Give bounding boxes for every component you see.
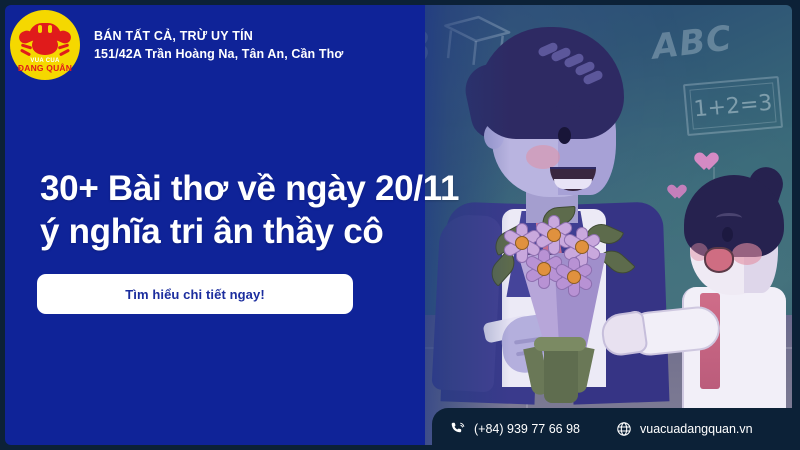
page-title: 30+ Bài thơ về ngày 20/11 ý nghĩa tri ân… (40, 168, 510, 253)
student-figure (656, 175, 792, 445)
crab-icon (19, 21, 71, 63)
promo-banner: 123 ABC 1+2=3 (0, 0, 800, 450)
website-url: vuacuadangquan.vn (640, 422, 753, 436)
chalk-equation-text: 1+2=3 (685, 78, 781, 134)
globe-icon (616, 421, 632, 437)
contact-footer: (+84) 939 77 66 98 vuacuadangquan.vn (432, 408, 800, 450)
chalk-board-doodle: 1+2=3 (683, 76, 783, 136)
flower-bouquet (488, 201, 648, 391)
phone-number: (+84) 939 77 66 98 (474, 422, 580, 436)
heart-icon (698, 153, 720, 173)
brand-text-block: BÁN TẤT CẢ, TRỪ UY TÍN 151/42A Trần Hoàn… (94, 27, 343, 63)
brand-header: VUA CUA ĐANG QUÂN BÁN TẤT CẢ, TRỪ UY TÍN… (10, 10, 343, 80)
website-contact[interactable]: vuacuadangquan.vn (616, 421, 753, 437)
headline-line-1: 30+ Bài thơ về ngày 20/11 (40, 168, 510, 211)
phone-icon (450, 421, 466, 437)
brand-slogan: BÁN TẤT CẢ, TRỪ UY TÍN (94, 27, 343, 45)
brand-address: 151/42A Trần Hoàng Na, Tân An, Cần Thơ (94, 45, 343, 63)
cta-button[interactable]: Tìm hiểu chi tiết ngay! (37, 274, 353, 314)
company-logo: VUA CUA ĐANG QUÂN (10, 10, 80, 80)
logo-text-bottom: ĐANG QUÂN (10, 63, 80, 73)
phone-contact[interactable]: (+84) 939 77 66 98 (450, 421, 580, 437)
headline-line-2: ý nghĩa tri ân thầy cô (40, 211, 510, 254)
teacher-hair-highlights (538, 41, 594, 87)
